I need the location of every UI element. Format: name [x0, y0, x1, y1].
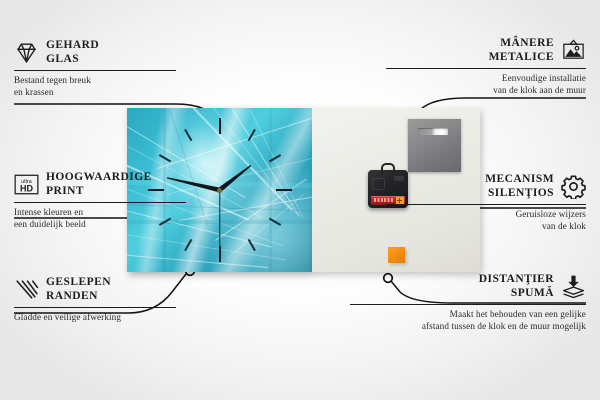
clock-hour-hand — [218, 163, 253, 192]
callout-title: GESLEPEN RANDEN — [46, 275, 111, 303]
callout-title: MÂNERE METALICE — [489, 36, 554, 64]
clock-tick — [276, 189, 292, 191]
clock-tick — [268, 218, 280, 226]
foam-spacer — [388, 247, 405, 263]
clock-tick — [247, 129, 255, 141]
callout-description: Gladde en veilige afwerking — [14, 311, 204, 323]
diagonal-lines-icon — [14, 277, 39, 302]
callout-manere-metalice: MÂNERE METALICE Eenvoudige installatie v… — [386, 36, 586, 97]
callout-description: Eenvoudige installatie van de klok aan d… — [386, 72, 586, 96]
callout-hoogwaardige-print: ultra HD HOOGWAARDIGE PRINT Intense kleu… — [14, 170, 214, 231]
callout-rule — [386, 68, 586, 69]
mechanism-detail — [372, 178, 385, 190]
callout-title: GEHARD GLAS — [46, 38, 99, 66]
callout-title: HOOGWAARDIGE PRINT — [46, 170, 152, 198]
callout-title: DISTANŢIER SPUMĂ — [479, 272, 554, 300]
callout-rule — [14, 202, 186, 203]
callout-geslepen-randen: GESLEPEN RANDEN Gladde en veilige afwerk… — [14, 275, 204, 323]
infographic-canvas: GEHARD GLAS Bestand tegen breuk en krass… — [0, 0, 600, 400]
picture-frame-icon — [561, 38, 586, 63]
callout-mecanism-silentios: MECANISM SILENŢIOS Geruisloze wijzers va… — [386, 172, 586, 233]
hanger-slot — [418, 128, 448, 135]
clock-tick — [268, 154, 280, 162]
callout-description: Geruisloze wijzers van de klok — [386, 208, 586, 232]
clock-second-hand — [219, 190, 220, 252]
clock-tick — [184, 239, 192, 251]
clock-center-cap — [217, 188, 222, 193]
clock-tick — [184, 129, 192, 141]
callout-description: Bestand tegen breuk en krassen — [14, 74, 204, 98]
clock-tick — [219, 118, 221, 134]
callout-distantier-spuma: DISTANŢIER SPUMĂ Maakt het behouden van … — [350, 272, 586, 333]
svg-text:HD: HD — [20, 183, 34, 193]
clock-tick — [158, 154, 170, 162]
callout-rule — [350, 304, 586, 305]
callout-rule — [386, 204, 586, 205]
clock-tick — [247, 239, 255, 251]
callout-gehard-glas: GEHARD GLAS Bestand tegen breuk en krass… — [14, 38, 204, 99]
callout-rule — [14, 307, 176, 308]
callout-description: Maakt het behouden van een gelijke afsta… — [350, 308, 586, 332]
arrow-layers-icon — [561, 274, 586, 299]
callout-title: MECANISM SILENŢIOS — [485, 172, 554, 200]
diamond-icon — [14, 40, 39, 65]
callout-description: Intense kleuren en een duidelijk beeld — [14, 206, 214, 230]
gear-icon — [561, 174, 586, 199]
ultra-hd-icon: ultra HD — [14, 172, 39, 197]
metal-hanger-plate — [408, 119, 461, 172]
callout-rule — [14, 70, 176, 71]
